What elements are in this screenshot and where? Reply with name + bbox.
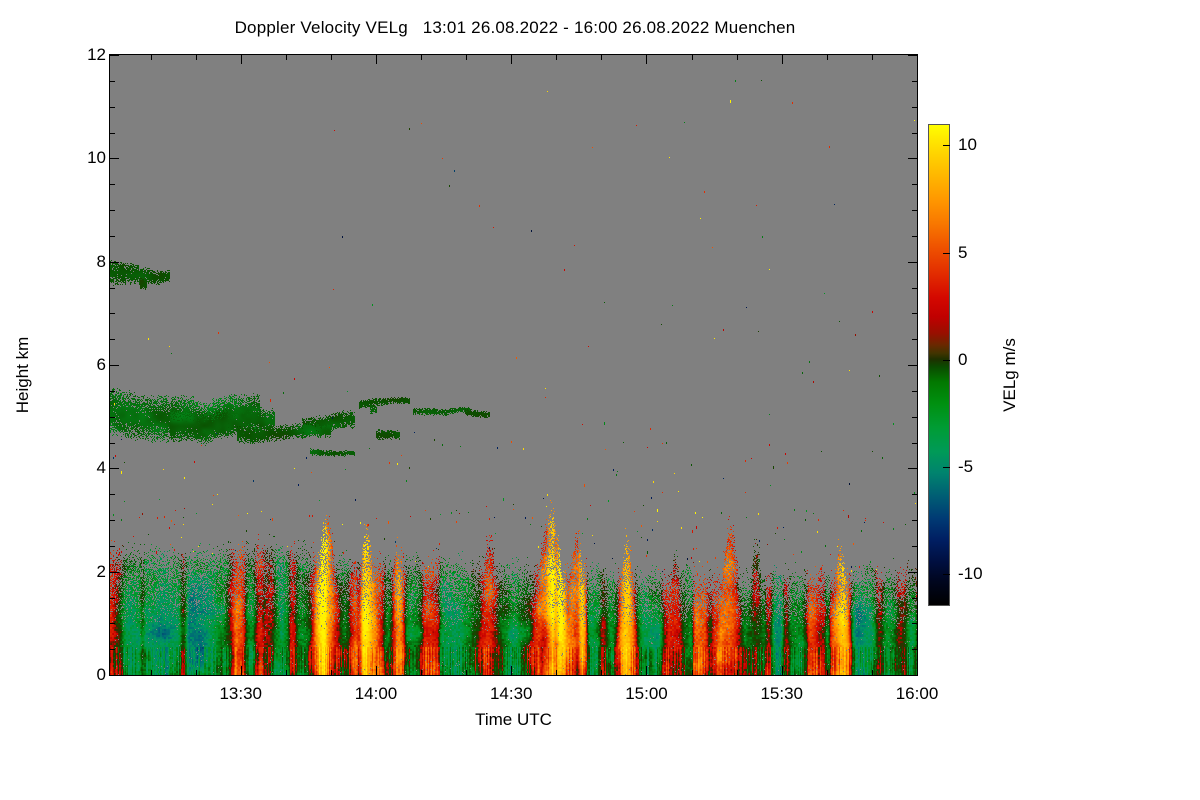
colorbar-tick-label: 5	[958, 243, 967, 263]
x-tick-major	[782, 55, 783, 64]
colorbar-tick	[943, 360, 950, 361]
colorbar	[928, 124, 950, 606]
y-tick-minor	[110, 649, 115, 650]
x-tick-label: 15:00	[625, 684, 668, 704]
y-axis-title: Height km	[13, 305, 33, 445]
x-tick-label: 15:30	[760, 684, 803, 704]
x-tick-minor	[872, 670, 873, 675]
y-tick-minor	[912, 236, 917, 237]
y-tick-minor	[912, 494, 917, 495]
y-tick-major	[110, 572, 119, 573]
y-tick-minor	[110, 313, 115, 314]
x-tick-label: 13:30	[219, 684, 262, 704]
x-tick-minor	[421, 670, 422, 675]
x-tick-major	[376, 55, 377, 64]
y-tick-minor	[912, 133, 917, 134]
colorbar-tick-label: -5	[958, 457, 973, 477]
colorbar-tick-label: -10	[958, 564, 983, 584]
x-tick-minor	[286, 55, 287, 60]
y-tick-major	[908, 158, 917, 159]
x-tick-label: 16:00	[896, 684, 939, 704]
y-tick-major	[110, 158, 119, 159]
x-tick-minor	[196, 670, 197, 675]
page-title: Doppler Velocity VELg 13:01 26.08.2022 -…	[0, 18, 1030, 38]
x-tick-major	[511, 55, 512, 64]
x-tick-major	[646, 666, 647, 675]
y-tick-major	[908, 468, 917, 469]
y-tick-minor	[110, 623, 115, 624]
y-tick-minor	[110, 494, 115, 495]
y-tick-minor	[110, 391, 115, 392]
y-tick-minor	[110, 107, 115, 108]
x-tick-minor	[737, 670, 738, 675]
y-tick-minor	[912, 313, 917, 314]
y-tick-minor	[110, 133, 115, 134]
x-tick-major	[917, 55, 918, 64]
y-tick-major	[908, 262, 917, 263]
x-tick-label: 14:30	[490, 684, 533, 704]
x-tick-minor	[692, 670, 693, 675]
x-tick-minor	[827, 55, 828, 60]
x-tick-major	[782, 666, 783, 675]
y-tick-minor	[110, 184, 115, 185]
x-tick-major	[241, 666, 242, 675]
y-tick-minor	[912, 107, 917, 108]
x-tick-minor	[196, 55, 197, 60]
y-tick-minor	[912, 546, 917, 547]
y-tick-major	[908, 55, 917, 56]
y-tick-major	[110, 262, 119, 263]
y-tick-minor	[912, 443, 917, 444]
y-tick-major	[110, 675, 119, 676]
x-tick-major	[376, 666, 377, 675]
x-tick-minor	[331, 55, 332, 60]
plot-area	[109, 54, 918, 676]
x-tick-minor	[601, 670, 602, 675]
x-tick-label: 14:00	[355, 684, 398, 704]
x-tick-major	[511, 666, 512, 675]
y-tick-label: 4	[97, 458, 106, 478]
y-tick-minor	[110, 288, 115, 289]
y-tick-label: 10	[87, 148, 106, 168]
x-tick-minor	[286, 670, 287, 675]
x-tick-minor	[151, 670, 152, 675]
colorbar-gradient	[928, 124, 950, 606]
y-tick-label: 0	[97, 665, 106, 685]
y-tick-major	[110, 55, 119, 56]
y-tick-label: 2	[97, 562, 106, 582]
y-tick-minor	[110, 81, 115, 82]
y-tick-minor	[912, 288, 917, 289]
colorbar-tick-label: 0	[958, 350, 967, 370]
x-tick-major	[917, 666, 918, 675]
y-tick-minor	[912, 210, 917, 211]
x-tick-minor	[556, 670, 557, 675]
y-tick-minor	[110, 598, 115, 599]
colorbar-title: VELg m/s	[1000, 295, 1020, 455]
y-tick-minor	[912, 649, 917, 650]
y-tick-minor	[912, 184, 917, 185]
heatmap-canvas	[110, 55, 917, 675]
y-tick-major	[110, 365, 119, 366]
x-tick-minor	[151, 55, 152, 60]
y-tick-minor	[110, 417, 115, 418]
y-tick-minor	[912, 623, 917, 624]
y-tick-major	[908, 365, 917, 366]
y-tick-minor	[912, 339, 917, 340]
y-tick-minor	[912, 391, 917, 392]
y-tick-minor	[110, 546, 115, 547]
y-tick-label: 12	[87, 45, 106, 65]
y-tick-label: 6	[97, 355, 106, 375]
y-tick-minor	[110, 443, 115, 444]
x-tick-minor	[331, 670, 332, 675]
x-tick-minor	[601, 55, 602, 60]
x-tick-minor	[827, 670, 828, 675]
y-tick-minor	[110, 520, 115, 521]
y-tick-major	[908, 675, 917, 676]
x-axis-title: Time UTC	[110, 710, 917, 730]
colorbar-tick	[943, 253, 950, 254]
y-tick-label: 8	[97, 252, 106, 272]
colorbar-tick	[943, 145, 950, 146]
x-tick-minor	[737, 55, 738, 60]
x-tick-major	[241, 55, 242, 64]
x-tick-minor	[872, 55, 873, 60]
y-tick-minor	[912, 520, 917, 521]
y-tick-minor	[912, 598, 917, 599]
y-tick-minor	[110, 210, 115, 211]
y-tick-major	[908, 572, 917, 573]
colorbar-tick	[943, 467, 950, 468]
y-tick-minor	[110, 339, 115, 340]
y-tick-minor	[110, 236, 115, 237]
y-tick-major	[110, 468, 119, 469]
x-tick-minor	[466, 670, 467, 675]
colorbar-tick-label: 10	[958, 135, 977, 155]
colorbar-tick	[943, 574, 950, 575]
y-tick-minor	[912, 81, 917, 82]
x-tick-minor	[466, 55, 467, 60]
x-tick-minor	[692, 55, 693, 60]
y-tick-minor	[912, 417, 917, 418]
x-tick-minor	[421, 55, 422, 60]
x-tick-major	[646, 55, 647, 64]
x-tick-minor	[556, 55, 557, 60]
